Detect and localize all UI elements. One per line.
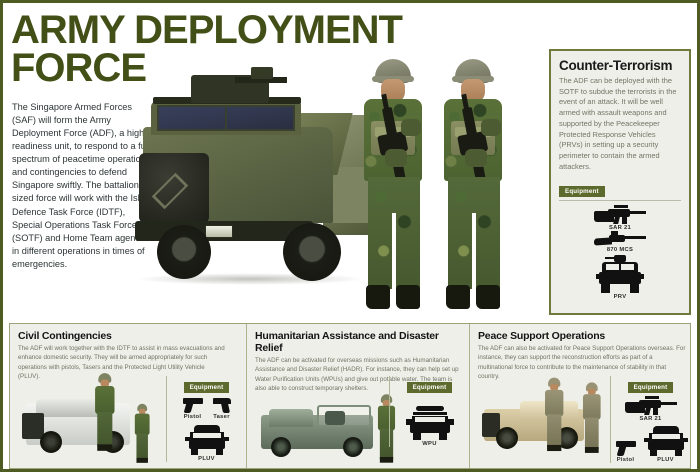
truck-rear-wheel: [343, 437, 363, 457]
combat-boot-left: [446, 285, 470, 309]
vehicle-front-wheel: [496, 427, 518, 449]
utility-vehicle-icon: [187, 425, 227, 455]
equipment-label: PLUV: [173, 456, 240, 462]
vehicle-windshield: [157, 105, 295, 131]
equipment-row: Pistol PLUV: [617, 426, 684, 463]
equipment-label: WPU: [396, 441, 463, 447]
equipment-label: Pistol: [616, 457, 636, 463]
gloved-hand-upper: [481, 119, 501, 136]
equipment-item: PLUV: [646, 426, 686, 463]
soldier-figure: [544, 378, 564, 449]
panel-civil-contingencies: Civil Contingencies The ADF will work to…: [10, 324, 246, 468]
soldier-figure: [582, 383, 602, 450]
panel-title: Civil Contingencies: [18, 330, 238, 342]
pistol-icon: [616, 441, 636, 456]
equipment-label: Pistol: [183, 414, 203, 420]
vehicle-rear-wheel: [283, 223, 341, 281]
turret-optics: [251, 67, 273, 79]
combat-boot-right: [476, 285, 500, 309]
truck-front-wheel: [271, 437, 291, 457]
counter-terrorism-title: Counter-Terrorism: [559, 58, 681, 73]
counter-terrorism-equipment-list: SAR 21 870 MCS PRV: [551, 207, 689, 300]
panel-title: Humanitarian Assistance and Disaster Rel…: [255, 330, 461, 354]
equipment-badge: Equipment: [407, 382, 453, 393]
camouflage-uniform-legs: [368, 177, 420, 289]
armoured-vehicle-icon: [597, 255, 643, 293]
panel-equipment: Equipment WPU: [389, 376, 463, 447]
panel-humanitarian-assistance: Humanitarian Assistance and Disaster Rel…: [246, 324, 469, 468]
gloved-hand-upper: [401, 119, 421, 136]
combat-boot-left: [366, 285, 390, 309]
truck-cabin: [269, 409, 313, 427]
equipment-item: WPU: [396, 406, 463, 447]
water-purification-module: [325, 411, 345, 425]
camouflage-uniform-legs: [448, 177, 500, 289]
pistol-icon: [183, 398, 203, 413]
equipment-label: SAR 21: [617, 416, 684, 422]
equipment-item: Taser: [213, 398, 231, 420]
gloved-hand: [385, 149, 407, 167]
water-purification-unit-icon: [408, 406, 452, 440]
panel-title: Peace Support Operations: [478, 330, 682, 342]
equipment-item: Pistol: [183, 398, 203, 420]
soldier-photo-left: [351, 59, 435, 317]
vehicle-front-wheel: [157, 225, 211, 279]
counter-terrorism-equipment-header: Equipment: [559, 180, 681, 201]
infographic-poster: ARMY DEPLOYMENT FORCE The Singapore Arme…: [0, 0, 700, 472]
gloved-hand: [465, 149, 487, 167]
soldier-photo-right: [431, 59, 515, 317]
peacekeeper-prv-photo: [135, 75, 385, 297]
peace-support-photo: [482, 379, 622, 449]
equipment-item: PRV: [551, 255, 689, 300]
humanitarian-photo: [259, 391, 409, 457]
civil-contingencies-photo: [22, 379, 180, 453]
operations-panels: Civil Contingencies The ADF will work to…: [9, 323, 691, 469]
panel-equipment: Equipment SAR 21 Pistol: [610, 376, 684, 463]
panel-peace-support-operations: Peace Support Operations The ADF can als…: [469, 324, 690, 468]
taser-icon: [213, 398, 231, 413]
equipment-item: PLUV: [173, 425, 240, 462]
equipment-badge: Equipment: [628, 382, 674, 393]
hero-section: ARMY DEPLOYMENT FORCE The Singapore Arme…: [3, 3, 697, 320]
remote-weapon-station: [191, 75, 269, 103]
equipment-row: Pistol Taser: [173, 398, 240, 420]
shotgun-icon: [594, 233, 646, 246]
panel-equipment: Equipment Pistol Taser PLUV: [166, 376, 240, 462]
equipment-label: SAR 21: [551, 225, 689, 231]
assault-rifle-icon: [594, 207, 646, 224]
soldier-figure: [94, 373, 116, 453]
equipment-label: Taser: [213, 414, 231, 420]
hero-artwork: [123, 31, 563, 319]
equipment-badge: Equipment: [184, 382, 230, 393]
vehicle-headlight: [205, 225, 233, 238]
combat-boot-right: [396, 285, 420, 309]
equipment-badge: Equipment: [559, 186, 605, 197]
equipment-item: Pistol: [616, 441, 636, 463]
equipment-label: PRV: [551, 294, 689, 300]
equipment-item: SAR 21: [551, 207, 689, 231]
counter-terrorism-body: The ADF can be deployed with the SOTF to…: [559, 76, 681, 173]
equipment-label: 870 MCS: [551, 247, 689, 253]
counter-terrorism-panel: Counter-Terrorism The ADF can be deploye…: [549, 49, 691, 315]
equipment-item: 870 MCS: [551, 233, 689, 253]
utility-vehicle-icon: [646, 426, 686, 456]
soldier-figure: [134, 404, 150, 453]
suv-front-wheel: [40, 431, 62, 453]
equipment-label: PLUV: [646, 457, 686, 463]
assault-rifle-icon: [625, 398, 677, 415]
equipment-item: SAR 21: [617, 398, 684, 422]
